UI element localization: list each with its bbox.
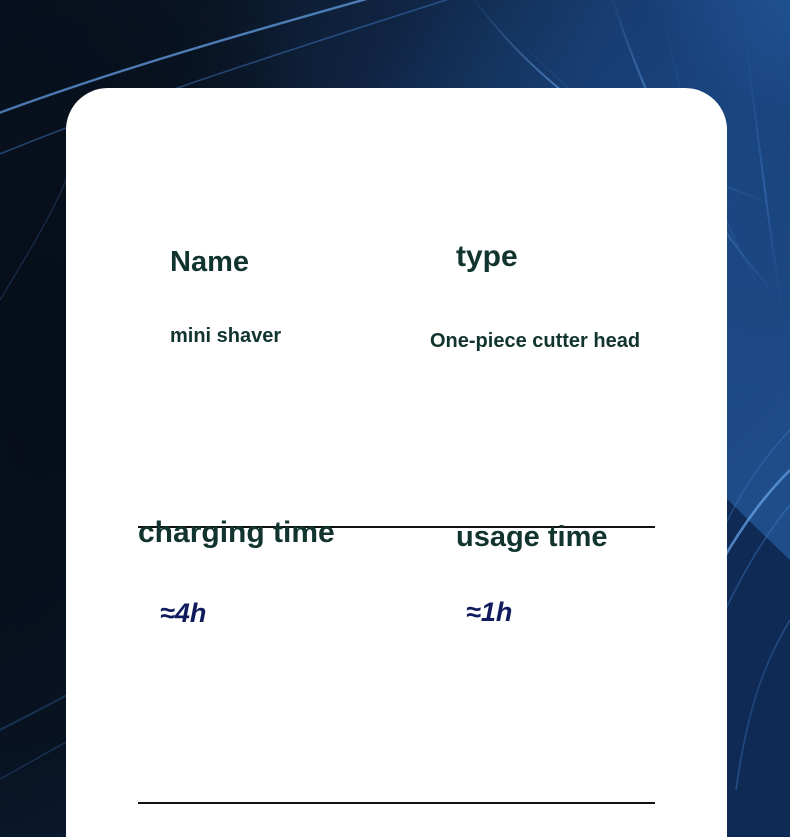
spec-value-usage-time: ≈1h — [466, 597, 588, 628]
product-information-card — [66, 88, 727, 837]
spec-cell-charging-time: charging time ≈4h — [138, 516, 335, 629]
spec-value-charging-time: ≈4h — [160, 598, 335, 629]
spec-label-type: type — [456, 240, 686, 274]
spec-cell-type: type One-piece cutter head — [410, 246, 640, 353]
spec-cell-usage-time: usage time ≈1h — [436, 516, 588, 628]
spec-label-name: Name — [170, 246, 313, 279]
spec-label-usage-time: usage time — [456, 521, 608, 554]
spec-label-charging-time: charging time — [138, 516, 335, 550]
divider-bottom — [138, 802, 655, 804]
spec-value-type: One-piece cutter head — [430, 330, 640, 353]
spec-value-name: mini shaver — [170, 325, 281, 348]
spec-cell-name: Name mini shaver — [138, 246, 281, 348]
